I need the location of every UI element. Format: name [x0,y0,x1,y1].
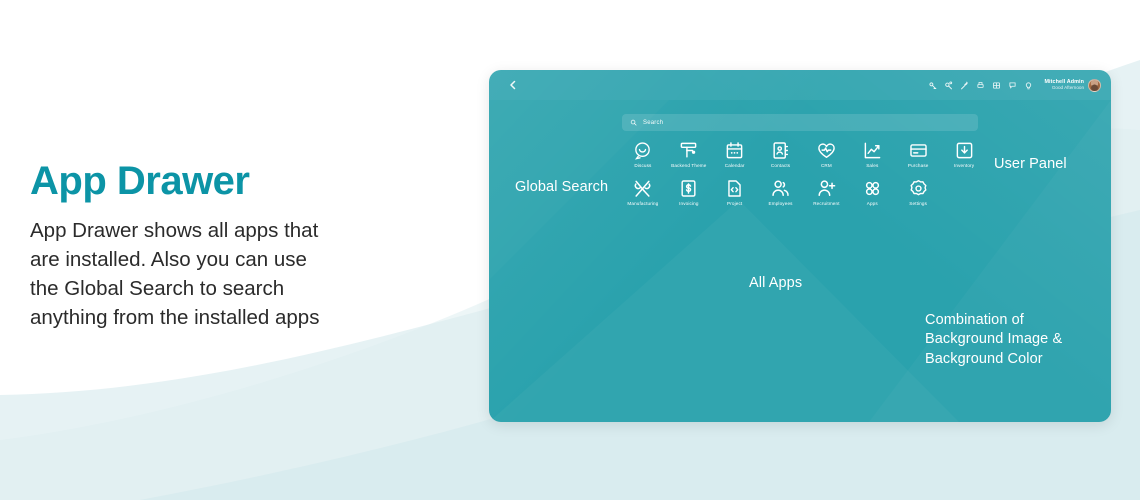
app-drawer-panel: Mitchell Admin Good Afternoon Search Dis… [489,70,1111,422]
calendar-icon [725,141,744,160]
app-contacts[interactable]: Contacts [758,141,804,168]
sales-chart-icon [863,141,882,160]
contacts-icon [771,141,790,160]
apps-grid: Discuss Backend Theme Calendar [620,141,987,206]
app-purchase[interactable]: Purchase [895,141,941,168]
page-title: App Drawer [30,160,450,202]
avatar[interactable] [1088,79,1101,92]
app-label: Apps [867,201,878,206]
app-label: Calendar [725,163,745,168]
manufacturing-tools-icon [633,179,652,198]
app-label: Recruitment [813,201,839,206]
app-label: Manufacturing [627,201,658,206]
annotation-background: Combination of Background Image & Backgr… [925,311,1062,369]
app-label: Project [727,201,742,206]
annotation-all-apps: All Apps [749,274,802,293]
app-project[interactable]: Project [712,179,758,206]
app-label: Discuss [634,163,651,168]
app-calendar[interactable]: Calendar [712,141,758,168]
intro-copy: App Drawer App Drawer shows all apps tha… [30,160,450,332]
app-backend-theme[interactable]: Backend Theme [666,141,712,168]
app-inventory[interactable]: Inventory [941,141,987,168]
inventory-box-icon [955,141,974,160]
annotation-global-search: Global Search [515,178,608,197]
app-settings[interactable]: Settings [895,179,941,206]
app-discuss[interactable]: Discuss [620,141,666,168]
project-code-icon [725,179,744,198]
search-placeholder: Search [643,120,663,126]
settings-gear-icon [909,179,928,198]
wrench-icon[interactable] [960,81,969,90]
app-label: Contacts [771,163,790,168]
app-label: Employees [769,201,793,206]
app-label: Inventory [954,163,974,168]
backend-theme-icon [679,141,698,160]
discuss-icon [633,141,652,160]
app-invoicing[interactable]: Invoicing [666,179,712,206]
app-crm[interactable]: CRM [804,141,850,168]
page-description: App Drawer shows all apps that are insta… [30,216,450,332]
search-icon [630,119,637,126]
app-label: Settings [909,201,927,206]
apps-dots-icon [863,179,882,198]
user-greeting: Good Afternoon [1044,85,1084,90]
app-label: Invoicing [679,201,698,206]
app-label: Purchase [908,163,929,168]
chat-icon[interactable] [1008,81,1017,90]
chevron-left-icon[interactable] [507,79,519,91]
app-sales[interactable]: Sales [849,141,895,168]
panel-topbar: Mitchell Admin Good Afternoon [489,70,1111,100]
recruitment-user-plus-icon [817,179,836,198]
grid-icon[interactable] [992,81,1001,90]
app-label: CRM [821,163,832,168]
annotation-user-panel: User Panel [994,155,1067,174]
app-apps[interactable]: Apps [849,179,895,206]
user-text: Mitchell Admin Good Afternoon [1044,79,1084,90]
print-icon[interactable] [976,81,985,90]
app-employees[interactable]: Employees [758,179,804,206]
purchase-card-icon [909,141,928,160]
user-panel[interactable]: Mitchell Admin Good Afternoon [1044,79,1101,92]
app-label: Sales [866,163,878,168]
app-label: Backend Theme [671,163,706,168]
bulb-icon[interactable] [1024,81,1033,90]
global-search-input[interactable]: Search [622,114,978,131]
employees-icon [771,179,790,198]
activity-icon[interactable] [944,81,953,90]
invoicing-dollar-icon [679,179,698,198]
crm-heart-icon [817,141,836,160]
topbar-system-tray: Mitchell Admin Good Afternoon [928,70,1101,100]
bug-icon[interactable] [928,81,937,90]
app-recruitment[interactable]: Recruitment [804,179,850,206]
app-manufacturing[interactable]: Manufacturing [620,179,666,206]
